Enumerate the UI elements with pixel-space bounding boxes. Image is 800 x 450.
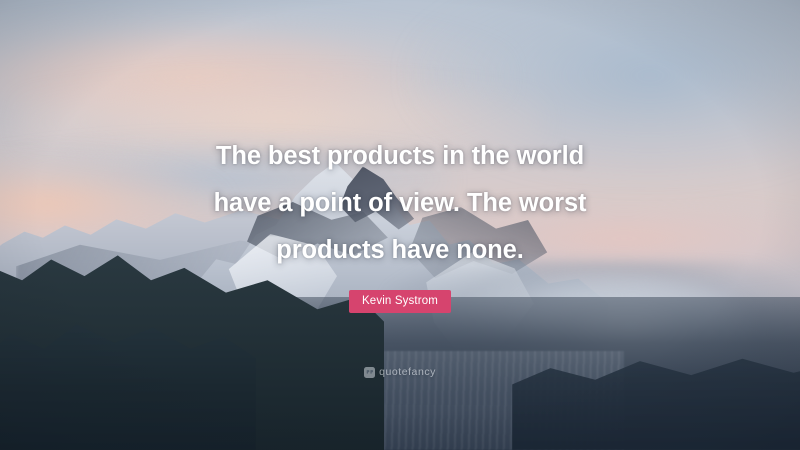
- quote-wallpaper: The best products in the world have a po…: [0, 0, 800, 450]
- quote-mark-icon: [364, 367, 375, 378]
- author-badge[interactable]: Kevin Systrom: [349, 290, 451, 313]
- quotefancy-watermark[interactable]: quotefancy: [0, 366, 800, 378]
- cloud-band-blue-right: [408, 0, 800, 189]
- quotefancy-wordmark: quotefancy: [379, 366, 436, 378]
